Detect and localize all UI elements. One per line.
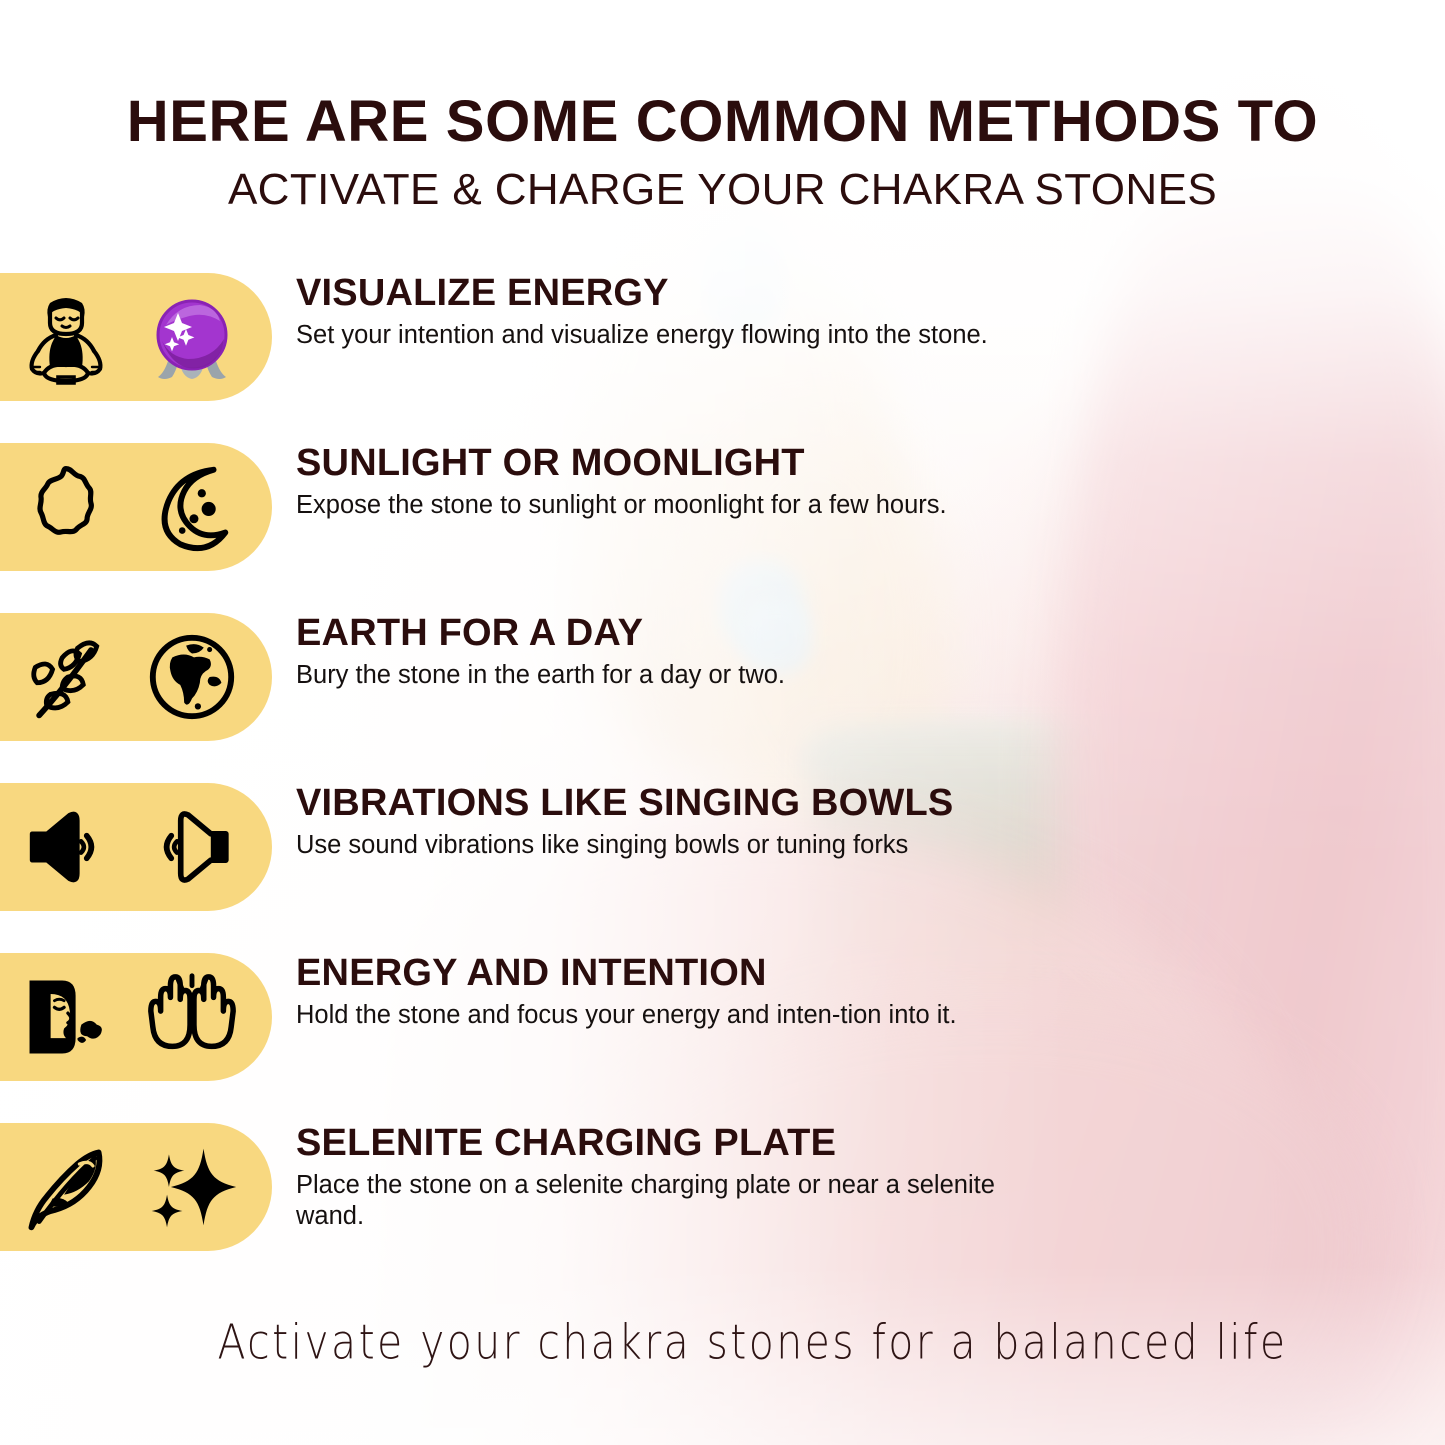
method-title: SELENITE CHARGING PLATE bbox=[296, 1123, 1406, 1164]
footer-tagline: Activate your chakra stones for a balanc… bbox=[0, 1314, 1445, 1371]
method-text: EARTH FOR A DAY Bury the stone in the ea… bbox=[296, 613, 1406, 691]
method-item-earth-for-a-day: EARTH FOR A DAY Bury the stone in the ea… bbox=[0, 603, 1445, 773]
method-title: SUNLIGHT OR MOONLIGHT bbox=[296, 443, 1406, 484]
page-title-line2: ACTIVATE & CHARGE YOUR CHAKRA STONES bbox=[0, 167, 1445, 213]
method-item-sunlight-moonlight: SUNLIGHT OR MOONLIGHT Expose the stone t… bbox=[0, 433, 1445, 603]
speaker-right-icon bbox=[14, 795, 118, 899]
method-text: SUNLIGHT OR MOONLIGHT Expose the stone t… bbox=[296, 443, 1406, 521]
method-title: VIBRATIONS LIKE SINGING BOWLS bbox=[296, 783, 1406, 824]
method-item-energy-intention: ENERGY AND INTENTION Hold the stone and … bbox=[0, 943, 1445, 1113]
crescent-moon-icon bbox=[140, 455, 244, 559]
sun-icon bbox=[14, 455, 118, 559]
method-description: Place the stone on a selenite charging p… bbox=[296, 1170, 996, 1232]
icon-pill bbox=[0, 613, 272, 741]
method-text: VISUALIZE ENERGY Set your intention and … bbox=[296, 273, 1406, 351]
method-description: Hold the stone and focus your energy and… bbox=[296, 1000, 986, 1031]
leaf-branch-icon bbox=[14, 625, 118, 729]
method-description: Use sound vibrations like singing bowls … bbox=[296, 830, 986, 861]
poster-header: HERE ARE SOME COMMON METHODS TO ACTIVATE… bbox=[0, 0, 1445, 213]
icon-pill bbox=[0, 953, 272, 1081]
raised-hands-icon bbox=[140, 965, 244, 1069]
method-title: ENERGY AND INTENTION bbox=[296, 953, 1406, 994]
icon-pill bbox=[0, 783, 272, 911]
method-description: Expose the stone to sunlight or moonligh… bbox=[296, 490, 996, 521]
method-item-visualize-energy: VISUALIZE ENERGY Set your intention and … bbox=[0, 263, 1445, 433]
method-item-vibrations: VIBRATIONS LIKE SINGING BOWLS Use sound … bbox=[0, 773, 1445, 943]
page-title-line1: HERE ARE SOME COMMON METHODS TO bbox=[0, 92, 1445, 151]
method-description: Bury the stone in the earth for a day or… bbox=[296, 660, 996, 691]
icon-pill bbox=[0, 273, 272, 401]
icon-pill bbox=[0, 1123, 272, 1251]
method-title: EARTH FOR A DAY bbox=[296, 613, 1406, 654]
method-description: Set your intention and visualize energy … bbox=[296, 320, 996, 351]
sparkles-icon bbox=[140, 1135, 244, 1239]
person-meditating-icon bbox=[14, 285, 118, 389]
speaker-left-icon bbox=[140, 795, 244, 899]
method-text: VIBRATIONS LIKE SINGING BOWLS Use sound … bbox=[296, 783, 1406, 861]
method-title: VISUALIZE ENERGY bbox=[296, 273, 1406, 314]
feather-quill-icon bbox=[14, 1135, 118, 1239]
method-item-selenite-plate: SELENITE CHARGING PLATE Place the stone … bbox=[0, 1113, 1445, 1283]
poster-canvas: HERE ARE SOME COMMON METHODS TO ACTIVATE… bbox=[0, 0, 1445, 1445]
methods-list: VISUALIZE ENERGY Set your intention and … bbox=[0, 263, 1445, 1283]
method-text: SELENITE CHARGING PLATE Place the stone … bbox=[296, 1123, 1406, 1232]
icon-pill bbox=[0, 443, 272, 571]
method-text: ENERGY AND INTENTION Hold the stone and … bbox=[296, 953, 1406, 1031]
crystal-ball-icon bbox=[140, 285, 244, 389]
globe-icon bbox=[140, 625, 244, 729]
face-exhaling-icon bbox=[14, 965, 118, 1069]
